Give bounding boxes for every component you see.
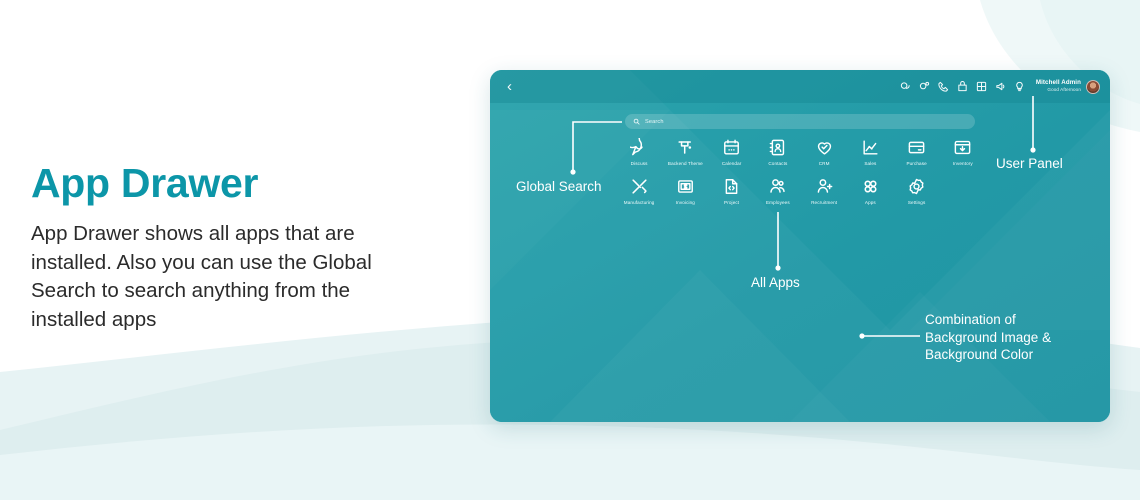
annotation-all-apps: All Apps: [751, 274, 800, 292]
annotation-label: All Apps: [751, 274, 800, 292]
annotation-global-search: Global Search: [516, 178, 602, 196]
leader-lines: [0, 0, 1140, 500]
annotation-user-panel: User Panel: [996, 155, 1063, 173]
annotation-background-combination: Combination of Background Image & Backgr…: [925, 311, 1051, 364]
annotation-label: User Panel: [996, 155, 1063, 173]
annotation-label: Combination of Background Image & Backgr…: [925, 311, 1051, 364]
annotation-label: Global Search: [516, 178, 602, 196]
slide-canvas: App Drawer App Drawer shows all apps tha…: [0, 0, 1140, 500]
